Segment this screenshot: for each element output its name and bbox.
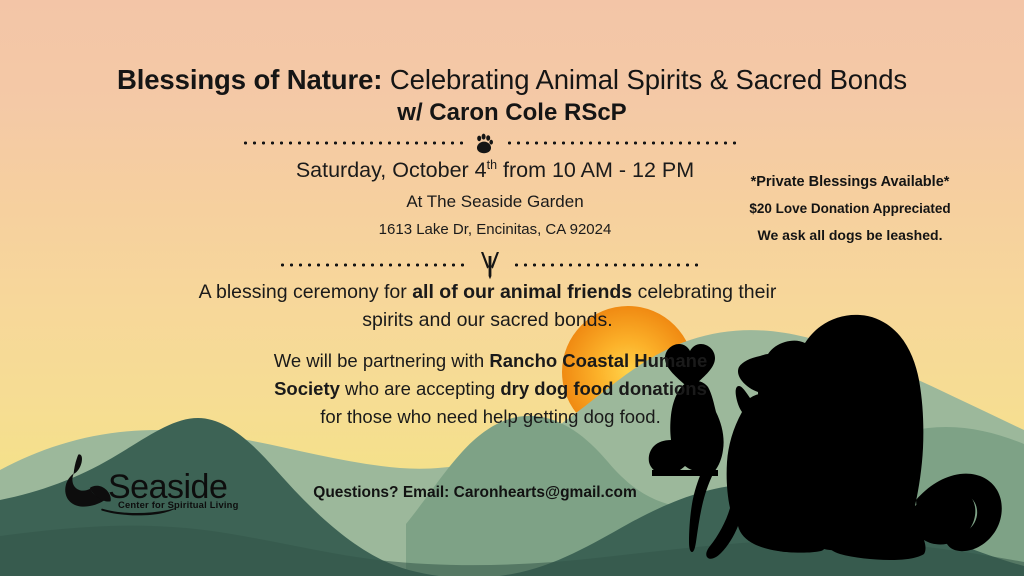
title-rest: Celebrating Animal Spirits & Sacred Bond… bbox=[382, 64, 907, 95]
p1-emphasis: all of our animal friends bbox=[412, 281, 632, 303]
divider2-dots-right bbox=[512, 263, 702, 267]
parrot-perch bbox=[652, 470, 718, 476]
flyer-title-block: Blessings of Nature: Celebrating Animal … bbox=[0, 64, 1024, 128]
page-title: Blessings of Nature: Celebrating Animal … bbox=[0, 64, 1024, 96]
p2-part-a: We will be partnering with bbox=[274, 350, 490, 371]
divider-paw bbox=[224, 132, 754, 154]
p2-part-e: for those who need help getting dog food… bbox=[320, 406, 660, 427]
flyer-canvas: Blessings of Nature: Celebrating Animal … bbox=[0, 0, 1024, 576]
title-lead: Blessings of Nature: bbox=[117, 64, 382, 95]
bird-track-icon bbox=[478, 250, 502, 280]
note-private-blessings: *Private Blessings Available* bbox=[700, 174, 1000, 190]
note-leash: We ask all dogs be leashed. bbox=[700, 227, 1000, 243]
seaside-logo[interactable]: Seaside Center for Spiritual Living bbox=[58, 452, 238, 518]
divider-dots-right bbox=[505, 141, 737, 145]
divider2-dots-left bbox=[278, 263, 468, 267]
contact-email-line[interactable]: Questions? Email: Caronhearts@gmail.com bbox=[190, 484, 760, 502]
note-donation: $20 Love Donation Appreciated bbox=[700, 201, 1000, 216]
mountain-foreground bbox=[0, 526, 1024, 576]
rabbit-silhouette bbox=[813, 410, 866, 551]
p1-part-a: A blessing ceremony for bbox=[199, 281, 413, 303]
notes-block: *Private Blessings Available* $20 Love D… bbox=[700, 174, 1000, 243]
divider-dots-left bbox=[241, 141, 463, 145]
logo-tagline: Center for Spiritual Living bbox=[118, 499, 238, 510]
paw-print-icon bbox=[473, 132, 495, 154]
event-time: from 10 AM - 12 PM bbox=[497, 158, 694, 182]
body-paragraph-2: We will be partnering with Rancho Coasta… bbox=[268, 347, 713, 430]
event-date-suffix: th bbox=[487, 158, 497, 172]
divider-bird-track bbox=[262, 250, 717, 280]
body-paragraph-1: A blessing ceremony for all of our anima… bbox=[180, 278, 795, 335]
cat-silhouette bbox=[706, 386, 825, 559]
title-subtitle: w/ Caron Cole RScP bbox=[0, 99, 1024, 127]
p2-donation-item: dry dog food donations bbox=[500, 378, 707, 399]
event-date-prefix: Saturday, October 4 bbox=[296, 158, 487, 182]
dog-silhouette bbox=[738, 315, 975, 560]
dog-tail bbox=[916, 474, 1002, 552]
p2-part-c: who are accepting bbox=[340, 378, 500, 399]
